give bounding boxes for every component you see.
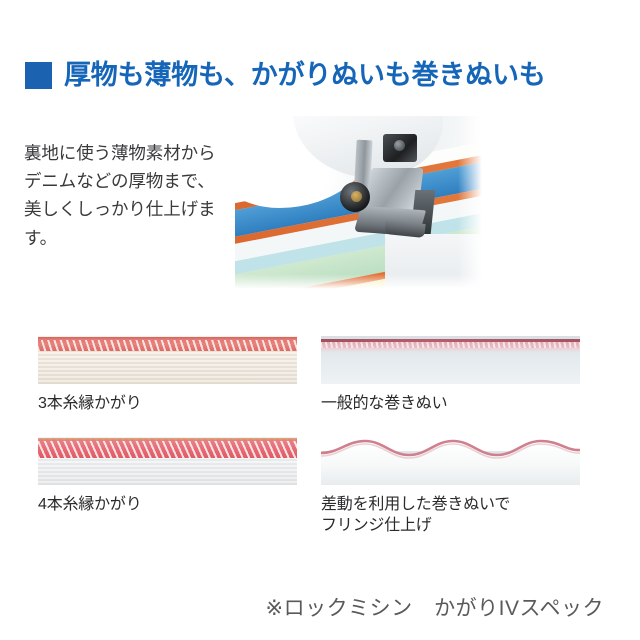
footer-note: ※ロックミシン かがりIVスペック — [0, 592, 604, 622]
photo-illustration — [235, 116, 484, 290]
machine-photo — [235, 116, 484, 290]
square-bullet-icon — [25, 62, 52, 89]
photo-edge-fade-right — [458, 116, 484, 290]
swatch-hem-shadow — [321, 348, 580, 352]
page-root: 厚物も薄物も、かがりぬいも巻きぬいも 裏地に使う薄物素材からデニムなどの厚物まで… — [0, 0, 640, 640]
swatch-standard-rolled-hem — [321, 336, 580, 384]
stitch-sample-four-thread-overlock: 4本糸縁かがり — [38, 437, 321, 537]
swatch-thread-edge — [38, 337, 297, 340]
photo-clamp-screw — [394, 140, 405, 151]
stitch-sample-label: 一般的な巻きぬい — [321, 393, 604, 415]
section-heading: 厚物も薄物も、かがりぬいも巻きぬいも — [25, 62, 546, 89]
stitch-sample-label: 4本糸縁かがり — [38, 494, 321, 516]
page-title: 厚物も薄物も、かがりぬいも巻きぬいも — [64, 62, 546, 89]
swatch-thread-edge — [38, 438, 297, 441]
stitch-sample-three-thread-overlock: 3本糸縁かがり — [38, 336, 321, 415]
swatch-differential-feed-fringe — [321, 437, 580, 485]
stitch-sample-standard-rolled-hem: 一般的な巻きぬい — [321, 336, 604, 415]
stitch-sample-row: 3本糸縁かがり 一般的な巻きぬい — [38, 336, 604, 415]
intro-paragraph: 裏地に使う薄物素材からデニムなどの厚物まで、美しくしっかり仕上げます。 — [24, 139, 230, 252]
stitch-sample-label: 3本糸縁かがり — [38, 393, 321, 415]
stitch-sample-row: 4本糸縁かがり — [38, 437, 604, 537]
photo-edge-fade-bottom — [235, 274, 484, 290]
lettuce-edge-illustration — [321, 437, 580, 485]
stitch-sample-label: 差動を利用した巻きぬいで フリンジ仕上げ — [321, 494, 604, 537]
swatch-four-thread-overlock — [38, 437, 297, 485]
stitch-sample-grid: 3本糸縁かがり 一般的な巻きぬい 4 — [38, 336, 604, 537]
swatch-thread-loops — [38, 439, 297, 458]
swatch-three-thread-overlock — [38, 336, 297, 384]
stitch-sample-differential-feed-fringe: 差動を利用した巻きぬいで フリンジ仕上げ — [321, 437, 604, 537]
photo-thumb-screw-center — [351, 191, 362, 202]
